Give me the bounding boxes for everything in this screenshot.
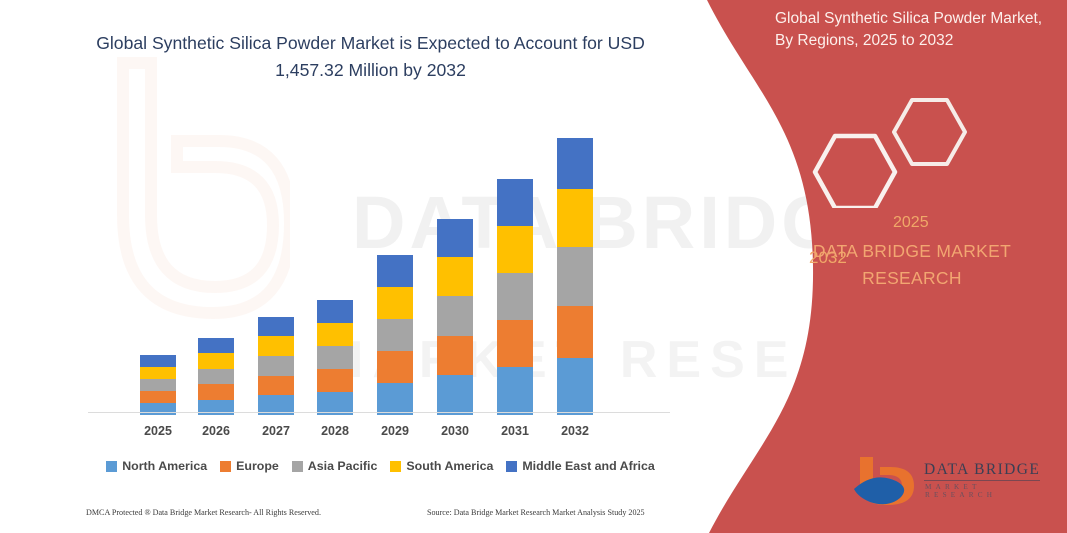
bar-2029[interactable]	[377, 255, 413, 415]
legend-label: North America	[122, 459, 207, 473]
logo-mark-icon	[852, 455, 922, 507]
bar-segment-middle-east-and-africa	[198, 338, 234, 353]
infographic-root: DATA BRIDGE MARKET RESEARCH Global Synth…	[0, 0, 1067, 533]
footer-source: Source: Data Bridge Market Research Mark…	[427, 508, 645, 517]
hexagon-2025-shape	[894, 100, 965, 164]
bar-2025[interactable]	[140, 355, 176, 415]
footer-copyright: DMCA Protected ® Data Bridge Market Rese…	[86, 508, 321, 517]
bar-segment-south-america	[437, 257, 473, 296]
legend-item-asia-pacific[interactable]: Asia Pacific	[292, 459, 378, 473]
legend-swatch-icon	[390, 461, 401, 472]
x-label-2026: 2026	[186, 424, 246, 438]
bar-segment-south-america	[198, 353, 234, 369]
bar-segment-south-america	[497, 226, 533, 273]
legend-item-north-america[interactable]: North America	[106, 459, 207, 473]
bar-segment-asia-pacific	[258, 356, 294, 376]
brand-name-line1: DATA BRIDGE MARKET	[813, 241, 1011, 261]
bar-segment-north-america	[377, 383, 413, 415]
bar-segment-middle-east-and-africa	[557, 138, 593, 189]
bar-segment-asia-pacific	[140, 379, 176, 391]
legend-item-south-america[interactable]: South America	[390, 459, 493, 473]
bar-segment-south-america	[258, 336, 294, 356]
bar-segment-middle-east-and-africa	[497, 179, 533, 226]
x-axis-line	[88, 412, 670, 413]
bar-segment-asia-pacific	[317, 346, 353, 369]
bar-segment-europe	[140, 391, 176, 403]
stacked-bar-chart	[88, 100, 673, 415]
bar-segment-middle-east-and-africa	[140, 355, 176, 367]
bar-segment-middle-east-and-africa	[317, 300, 353, 323]
bar-segment-asia-pacific	[198, 369, 234, 384]
bar-segment-asia-pacific	[437, 296, 473, 336]
panel-title: Global Synthetic Silica Powder Market, B…	[775, 8, 1047, 52]
legend-label: South America	[406, 459, 493, 473]
bar-segment-asia-pacific	[497, 273, 533, 320]
x-label-2027: 2027	[246, 424, 306, 438]
legend-item-middle-east-and-africa[interactable]: Middle East and Africa	[506, 459, 654, 473]
bar-2027[interactable]	[258, 317, 294, 415]
chart-legend: North AmericaEuropeAsia PacificSouth Ame…	[88, 456, 673, 476]
bar-segment-europe	[557, 306, 593, 358]
x-label-2030: 2030	[425, 424, 485, 438]
bar-2030[interactable]	[437, 219, 473, 415]
legend-swatch-icon	[292, 461, 303, 472]
bar-segment-europe	[377, 351, 413, 383]
brand-panel-content: Global Synthetic Silica Powder Market, B…	[757, 0, 1067, 533]
hexagon-badges: 2032 2025	[757, 88, 1067, 208]
bar-segment-europe	[258, 376, 294, 395]
x-label-2031: 2031	[485, 424, 545, 438]
bar-segment-middle-east-and-africa	[437, 219, 473, 257]
legend-swatch-icon	[506, 461, 517, 472]
bar-segment-south-america	[140, 367, 176, 379]
bar-2032[interactable]	[557, 138, 593, 415]
hexagon-2025-label: 2025	[893, 214, 929, 232]
hexagon-shapes	[757, 88, 1067, 208]
x-label-2025: 2025	[128, 424, 188, 438]
bar-segment-south-america	[317, 323, 353, 346]
bar-segment-north-america	[140, 403, 176, 415]
footer: DMCA Protected ® Data Bridge Market Rese…	[0, 505, 700, 525]
brand-name-line2: RESEARCH	[862, 268, 962, 288]
logo-text-primary: DATA BRIDGE	[924, 461, 1040, 481]
bar-segment-asia-pacific	[377, 319, 413, 351]
legend-label: Europe	[236, 459, 279, 473]
bar-segment-europe	[497, 320, 533, 367]
bar-segment-south-america	[377, 287, 413, 319]
legend-item-europe[interactable]: Europe	[220, 459, 279, 473]
x-label-2029: 2029	[365, 424, 425, 438]
bar-segment-europe	[437, 336, 473, 375]
legend-swatch-icon	[220, 461, 231, 472]
bar-segment-asia-pacific	[557, 247, 593, 306]
bar-segment-south-america	[557, 189, 593, 247]
x-label-2032: 2032	[545, 424, 605, 438]
x-label-2028: 2028	[305, 424, 365, 438]
bar-segment-middle-east-and-africa	[258, 317, 294, 336]
bar-2028[interactable]	[317, 300, 353, 415]
legend-swatch-icon	[106, 461, 117, 472]
legend-label: Asia Pacific	[308, 459, 378, 473]
bar-segment-north-america	[557, 358, 593, 415]
bar-segment-north-america	[497, 367, 533, 415]
bar-2026[interactable]	[198, 338, 234, 415]
logo-text-secondary: MARKET RESEARCH	[925, 483, 1052, 499]
bar-2031[interactable]	[497, 179, 533, 415]
bar-segment-north-america	[437, 375, 473, 415]
hexagon-2032-shape	[815, 136, 895, 208]
bar-segment-europe	[198, 384, 234, 400]
bar-segment-middle-east-and-africa	[377, 255, 413, 287]
x-axis-labels: 20252026202720282029203020312032	[88, 424, 673, 446]
brand-name: DATA BRIDGE MARKET RESEARCH	[757, 238, 1067, 292]
page-title: Global Synthetic Silica Powder Market is…	[88, 30, 653, 84]
legend-label: Middle East and Africa	[522, 459, 654, 473]
bar-segment-europe	[317, 369, 353, 392]
company-logo: DATA BRIDGE MARKET RESEARCH	[852, 455, 1052, 511]
